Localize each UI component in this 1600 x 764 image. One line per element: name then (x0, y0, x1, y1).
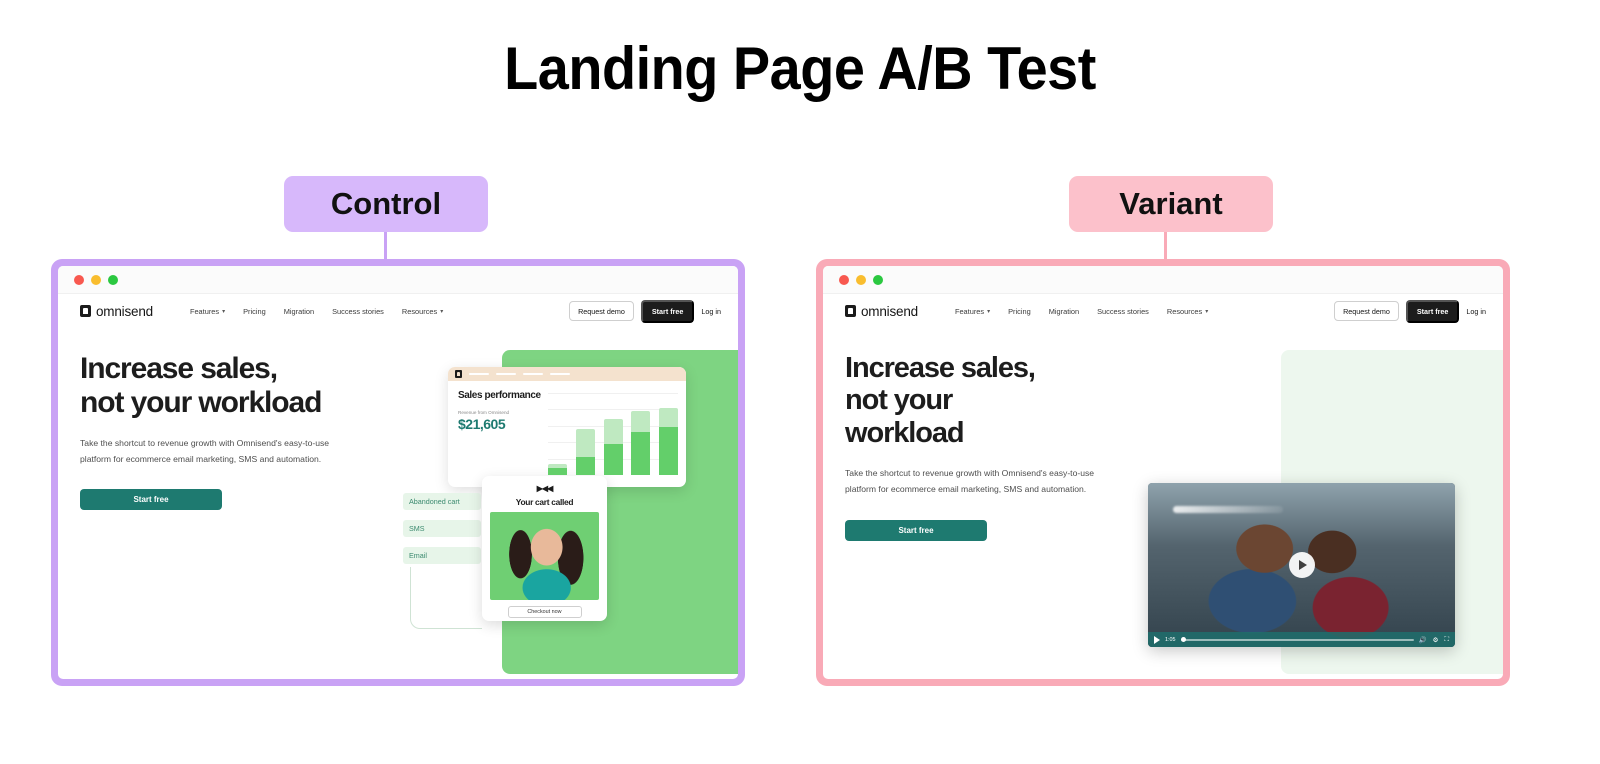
nav-item-pricing-label: Pricing (1008, 307, 1031, 316)
hero-video-player[interactable]: 1:05 🔊 ⚙ ⛶ (1148, 483, 1455, 647)
hero-copy-control: Increase sales, not your workload Take t… (80, 352, 410, 510)
nav-item-features[interactable]: Features ▾ (181, 307, 234, 316)
omnisend-logo[interactable]: omnisend (80, 304, 153, 319)
chart-bar-growth-segment (659, 408, 678, 428)
video-timestamp: 1:05 (1165, 637, 1176, 643)
email-headline: Your cart called (490, 497, 599, 507)
hero-subtext: Take the shortcut to revenue growth with… (80, 436, 330, 467)
dashboard-card-topbar (448, 367, 686, 381)
browser-titlebar-variant (823, 266, 1503, 294)
label-control-text: Control (331, 186, 441, 222)
log-in-link[interactable]: Log in (701, 307, 721, 316)
ab-test-comparison-page: Landing Page A/B Test Control Variant om… (0, 0, 1600, 764)
nav-actions-control: Request demo Start free Log in (569, 300, 721, 323)
play-icon[interactable] (1154, 636, 1160, 644)
nav-placeholder-pill (550, 373, 570, 376)
hero-copy-variant: Increase sales, not your workload Take t… (845, 352, 1175, 541)
connector-variant (1164, 232, 1167, 262)
nav-item-resources-label: Resources (1167, 307, 1202, 316)
chart-bar-base-segment (631, 432, 650, 475)
maximize-traffic-light-icon[interactable] (108, 275, 118, 285)
chart-gridline (548, 393, 678, 394)
hero-headline: Increase sales, not your workload (80, 352, 410, 419)
nav-item-migration-label: Migration (284, 307, 314, 316)
automation-flow: Abandoned cart SMS Email (403, 493, 481, 574)
minimize-traffic-light-icon[interactable] (856, 275, 866, 285)
nav-item-migration-label: Migration (1049, 307, 1079, 316)
label-variant-text: Variant (1119, 186, 1222, 222)
request-demo-button[interactable]: Request demo (569, 301, 634, 321)
chart-bar-base-segment (604, 444, 623, 475)
omnisend-wordmark: omnisend (861, 304, 918, 319)
email-brand-icon: ▶◀◀ (490, 484, 599, 493)
chart-bar (659, 408, 678, 475)
fullscreen-icon[interactable]: ⛶ (1444, 636, 1449, 644)
chart-bar (604, 419, 623, 475)
maximize-traffic-light-icon[interactable] (873, 275, 883, 285)
minimize-traffic-light-icon[interactable] (91, 275, 101, 285)
chart-bar-growth-segment (576, 429, 595, 457)
close-traffic-light-icon[interactable] (839, 275, 849, 285)
flow-connector-line (410, 567, 482, 629)
nav-item-resources-label: Resources (402, 307, 437, 316)
email-checkout-button[interactable]: Checkout now (508, 606, 582, 618)
omnisend-mark-icon (455, 370, 462, 378)
nav-item-migration[interactable]: Migration (1040, 307, 1088, 316)
video-light-beam (1173, 506, 1284, 513)
video-controls-bar: 1:05 🔊 ⚙ ⛶ (1148, 632, 1455, 647)
chevron-down-icon: ▾ (222, 308, 225, 315)
flow-step-sms: SMS (403, 520, 481, 537)
chart-bar-base-segment (576, 457, 595, 475)
nav-item-success-stories[interactable]: Success stories (323, 307, 393, 316)
browser-frame-variant: omnisend Features ▾ Pricing Migration Su… (816, 259, 1510, 686)
browser-frame-control: omnisend Features ▾ Pricing Migration Su… (51, 259, 745, 686)
nav-item-resources[interactable]: Resources ▾ (393, 307, 452, 316)
hero-headline-line1: Increase sales, (80, 352, 277, 385)
video-progress-slider[interactable] (1181, 639, 1414, 641)
email-preview-card: ▶◀◀ Your cart called Checkout now (482, 476, 607, 621)
gear-icon[interactable]: ⚙ (1433, 636, 1439, 644)
nav-links-control: Features ▾ Pricing Migration Success sto… (181, 307, 452, 316)
chevron-down-icon: ▾ (440, 308, 443, 315)
flow-step-email: Email (403, 547, 481, 564)
sales-performance-chart (548, 393, 678, 475)
chart-bar-base-segment (548, 468, 567, 475)
video-progress-knob[interactable] (1181, 637, 1186, 642)
volume-icon[interactable]: 🔊 (1419, 636, 1427, 644)
video-play-overlay-button[interactable] (1289, 552, 1315, 578)
nav-item-success-stories-label: Success stories (1097, 307, 1149, 316)
sales-performance-card: Sales performance Revenue from Omnisend … (448, 367, 686, 487)
nav-item-resources[interactable]: Resources ▾ (1158, 307, 1217, 316)
site-nav-variant: omnisend Features ▾ Pricing Migration Su… (823, 294, 1503, 328)
nav-item-pricing[interactable]: Pricing (234, 307, 275, 316)
chart-bar (576, 429, 595, 475)
site-nav-control: omnisend Features ▾ Pricing Migration Su… (58, 294, 738, 328)
chart-bar-base-segment (659, 427, 678, 475)
chart-bar (631, 411, 650, 475)
hero-start-free-button[interactable]: Start free (80, 489, 222, 510)
nav-placeholder-pill (496, 373, 516, 376)
nav-item-migration[interactable]: Migration (275, 307, 323, 316)
browser-window-variant: omnisend Features ▾ Pricing Migration Su… (823, 266, 1503, 679)
page-title: Landing Page A/B Test (56, 34, 1544, 103)
chart-bar-growth-segment (604, 419, 623, 444)
hero-section-control: Increase sales, not your workload Take t… (58, 328, 738, 679)
start-free-button[interactable]: Start free (641, 300, 695, 323)
nav-placeholder-pill (523, 373, 543, 376)
chart-bar (548, 464, 567, 475)
omnisend-wordmark: omnisend (96, 304, 153, 319)
email-hero-photo (490, 512, 599, 600)
nav-item-features-label: Features (955, 307, 984, 316)
flow-step-abandoned-cart: Abandoned cart (403, 493, 481, 510)
label-control: Control (284, 176, 488, 232)
nav-item-features-label: Features (190, 307, 219, 316)
chart-bar-growth-segment (631, 411, 650, 432)
omnisend-mark-icon (80, 305, 91, 317)
start-free-button[interactable]: Start free (1406, 300, 1460, 323)
hero-headline: Increase sales, not your workload (845, 352, 1060, 449)
nav-item-success-stories-label: Success stories (332, 307, 384, 316)
video-right-controls: 🔊 ⚙ ⛶ (1419, 636, 1449, 644)
request-demo-button[interactable]: Request demo (1334, 301, 1399, 321)
connector-control (384, 232, 387, 262)
log-in-link[interactable]: Log in (1466, 307, 1486, 316)
chevron-down-icon: ▾ (987, 308, 990, 315)
hero-headline-line2: not your workload (80, 386, 321, 419)
hero-start-free-button[interactable]: Start free (845, 520, 987, 541)
omnisend-logo[interactable]: omnisend (845, 304, 918, 319)
chevron-down-icon: ▾ (1205, 308, 1208, 315)
nav-placeholder-pill (469, 373, 489, 376)
omnisend-mark-icon (845, 305, 856, 317)
hero-section-variant: Increase sales, not your workload Take t… (823, 328, 1503, 679)
label-variant: Variant (1069, 176, 1273, 232)
browser-titlebar-control (58, 266, 738, 294)
dashboard-card-body: Sales performance Revenue from Omnisend … (448, 381, 686, 487)
nav-item-pricing-label: Pricing (243, 307, 266, 316)
nav-item-success-stories[interactable]: Success stories (1088, 307, 1158, 316)
nav-item-pricing[interactable]: Pricing (999, 307, 1040, 316)
nav-links-variant: Features ▾ Pricing Migration Success sto… (946, 307, 1217, 316)
close-traffic-light-icon[interactable] (74, 275, 84, 285)
hero-subtext: Take the shortcut to revenue growth with… (845, 466, 1095, 497)
browser-window-control: omnisend Features ▾ Pricing Migration Su… (58, 266, 738, 679)
nav-item-features[interactable]: Features ▾ (946, 307, 999, 316)
nav-actions-variant: Request demo Start free Log in (1334, 300, 1486, 323)
